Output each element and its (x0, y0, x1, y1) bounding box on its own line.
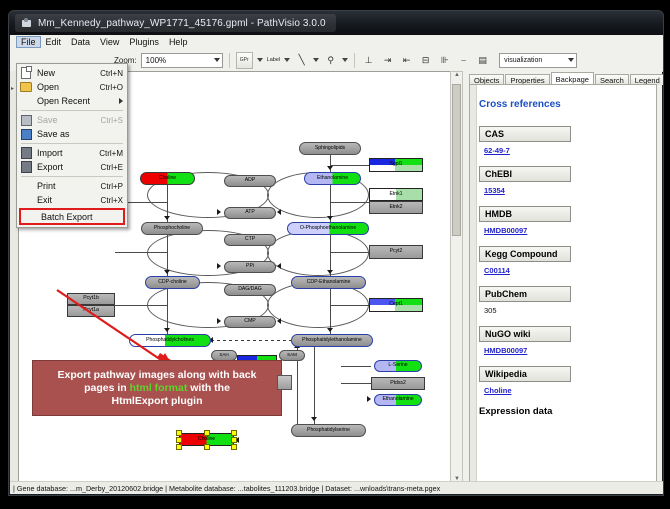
menu-bar: File Edit Data View Plugins Help (10, 35, 664, 49)
file-menu-save: Save Ctrl+S (17, 113, 127, 127)
node-ethanolamine-right[interactable]: Ethanolamine (374, 394, 422, 406)
xref-value-hmdb: HMDB00097 (484, 226, 654, 235)
xref-label-chebi: ChEBI (479, 166, 571, 182)
edge-sphingolipid-etn (330, 155, 331, 173)
node-phosphocholine[interactable]: Phosphocholine (141, 222, 203, 235)
blank-icon-2 (19, 180, 33, 192)
edge-gene-sgpl1 (330, 165, 370, 166)
status-bar-text: | Gene database: ...m_Derby_20120602.bri… (13, 484, 440, 493)
blank-icon-4 (23, 211, 37, 223)
blank-icon-1 (19, 95, 33, 107)
gene-etnk2[interactable]: Etnk2 (369, 201, 423, 214)
label-tool-label[interactable]: Label (267, 57, 280, 63)
xref-value-cas: 62-49-7 (484, 146, 654, 155)
selection-handle-se[interactable] (231, 444, 237, 450)
arrow-down-5 (327, 216, 333, 220)
arrow-down-3 (164, 328, 170, 332)
node-l-serine[interactable]: L-Serine (374, 360, 422, 372)
visualization-value: visualization (504, 57, 542, 64)
file-menu-batch-export[interactable]: Batch Export (19, 208, 125, 225)
file-menu-exit-accel: Ctrl+X (101, 196, 123, 205)
gene-sgpl1[interactable]: Sgpl1 (369, 158, 423, 172)
gene-ptdss2[interactable]: Ptdss2 (371, 377, 425, 390)
annotation-callout: Export pathway images along with back pa… (32, 360, 282, 416)
scroll-up-icon[interactable]: ▲ (454, 72, 460, 78)
toolbar-separator (229, 53, 230, 68)
arrow-left-cmp (277, 318, 281, 324)
save-as-icon (19, 128, 33, 140)
arrow-down-4 (327, 166, 333, 170)
export-icon (19, 161, 33, 173)
node-cdp-choline[interactable]: CDP-choline (145, 276, 200, 289)
arrow-left-ppi (277, 263, 281, 269)
node-cmp[interactable]: CMP (224, 316, 276, 328)
xref-link-wikipedia[interactable]: Choline (484, 386, 512, 395)
file-menu-popup[interactable]: New Ctrl+N Open Ctrl+O Open Recent Save … (16, 63, 128, 228)
gene-pcyt1b[interactable]: Pcyt1b (67, 293, 115, 305)
node-o-phosphoethanolamine[interactable]: O-Phosphoethanolamine (287, 222, 369, 235)
xref-label-pubchem: PubChem (479, 286, 571, 302)
file-menu-save-as[interactable]: Save as (17, 127, 127, 141)
edge-gene-pcyt2 (330, 252, 370, 253)
chevron-down-icon-2 (568, 58, 574, 62)
gene-sgpl1-label: Sgpl1 (389, 162, 402, 167)
save-disk-icon (19, 114, 33, 126)
node-sam[interactable]: SAM (279, 350, 305, 361)
arrow-down-6 (327, 270, 333, 274)
callout-anchor-box (277, 375, 292, 390)
blank-icon-3 (19, 194, 33, 206)
align-top-icon[interactable]: ⊥ (361, 53, 376, 68)
title-bar-inner: Mm_Kennedy_pathway_WP1771_45176.gpml - P… (15, 14, 336, 32)
file-menu-new-label: New (33, 68, 100, 78)
file-menu-new[interactable]: New Ctrl+N (17, 66, 127, 80)
backpage-scrollbar[interactable] (470, 85, 477, 491)
xref-label-wikipedia: Wikipedia (479, 366, 571, 382)
visualization-combo[interactable]: visualization (499, 53, 577, 68)
window-title: Mm_Kennedy_pathway_WP1771_45176.gpml - P… (38, 18, 326, 29)
open-folder-icon (19, 81, 33, 93)
gene-pcyt1a[interactable]: Pcyt1a (67, 305, 115, 317)
file-menu-save-accel: Ctrl+S (101, 116, 123, 125)
file-menu-export-label: Export (33, 162, 101, 172)
geneproduct-tool-icon[interactable]: GPr (236, 52, 253, 69)
file-menu-open-recent[interactable]: Open Recent (17, 94, 127, 108)
edge-gene-pcyt1 (115, 252, 167, 253)
file-menu-save-label: Save (33, 115, 101, 125)
file-menu-open-recent-label: Open Recent (33, 96, 115, 106)
edge-gene-chpt (115, 305, 167, 306)
node-ctp[interactable]: CTP (224, 234, 276, 246)
file-menu-print[interactable]: Print Ctrl+P (17, 179, 127, 193)
xref-label-cas: CAS (479, 126, 571, 142)
gene-pcyt2[interactable]: Pcyt2 (369, 245, 423, 259)
file-menu-import[interactable]: Import Ctrl+M (17, 146, 127, 160)
file-menu-open-label: Open (33, 82, 100, 92)
label-dropdown-icon[interactable] (284, 58, 290, 62)
xref-value-pubchem: 305 (484, 306, 654, 315)
xref-link-hmdb[interactable]: HMDB00097 (484, 226, 527, 235)
title-bar: Mm_Kennedy_pathway_WP1771_45176.gpml - P… (9, 11, 663, 35)
status-bar: | Gene database: ...m_Derby_20120602.bri… (10, 481, 664, 494)
callout-line-2: pages in html format with the (84, 382, 230, 395)
group-icon[interactable]: ▤ (475, 53, 490, 68)
xref-link-chebi[interactable]: 15354 (484, 186, 505, 195)
file-menu-print-label: Print (33, 181, 101, 191)
file-menu-export-accel: Ctrl+E (101, 163, 123, 172)
align-left-icon[interactable]: ⇥ (380, 53, 395, 68)
xref-value-wikipedia: Choline (484, 386, 654, 395)
xref-value-chebi: 15354 (484, 186, 654, 195)
menu-help[interactable]: Help (164, 36, 193, 48)
node-atp[interactable]: ATP (224, 207, 276, 219)
selection-handle-nw[interactable] (176, 430, 182, 436)
selection-handle-n[interactable] (204, 430, 210, 436)
node-phosphatidylserine[interactable]: Phosphatidylserine (291, 424, 366, 437)
distribute-horizontal-icon[interactable]: ⊟ (418, 53, 433, 68)
arrow-right-atp (217, 209, 221, 215)
node-phosphatidylcholines[interactable]: Phosphatidylcholines (129, 334, 211, 347)
desktop-background: Mm_Kennedy_pathway_WP1771_45176.gpml - P… (0, 0, 670, 509)
selection-handle-e[interactable] (231, 437, 237, 443)
arrow-right-ppi (217, 263, 221, 269)
file-menu-open-accel: Ctrl+O (100, 83, 123, 92)
callout-line-2b: with the (187, 382, 230, 394)
xref-value-nugo: HMDB00097 (484, 346, 654, 355)
callout-highlight: html format (130, 382, 188, 394)
geneproduct-dropdown-icon[interactable] (257, 58, 263, 62)
node-cdp-ethanolamine[interactable]: CDP-Ethanolamine (291, 276, 366, 289)
arrow-right-ethanolamine (367, 396, 371, 402)
selection-handle-w[interactable] (176, 437, 182, 443)
node-phosphatidylethanolamine[interactable]: Phosphatidylethanolamine (291, 334, 373, 347)
selection-handle-sw[interactable] (176, 444, 182, 450)
xref-label-nugo: NuGO wiki (479, 326, 571, 342)
callout-line-3: HtmlExport plugin (112, 395, 203, 408)
edge-gene-ptdss2 (341, 383, 371, 384)
xref-label-hmdb: HMDB (479, 206, 571, 222)
menu-file[interactable]: File (16, 36, 41, 48)
interaction-dropdown-icon[interactable] (342, 58, 348, 62)
arrow-down-2 (164, 270, 170, 274)
chevron-down-icon (214, 58, 220, 62)
file-menu-print-accel: Ctrl+P (101, 182, 123, 191)
menu-plugins[interactable]: Plugins (124, 36, 164, 48)
backpage-content: Cross references CAS 62-49-7 ChEBI 15354… (469, 84, 657, 492)
pathvisio-window: Mm_Kennedy_pathway_WP1771_45176.gpml - P… (8, 10, 664, 496)
xref-label-kegg: Kegg Compound (479, 246, 571, 262)
gene-cept1-label: Cept1 (389, 302, 403, 307)
client-area: File Edit Data View Plugins Help Zoom: 1… (10, 35, 662, 494)
arrow-down-ps (311, 417, 317, 421)
side-panel-tabs: Objects Properties Backpage Search Legen… (469, 71, 662, 85)
node-ppi[interactable]: PPi (224, 261, 276, 273)
file-menu-separator-3 (21, 176, 123, 177)
zoom-value: 100% (146, 56, 166, 65)
selection-handle-s[interactable] (204, 444, 210, 450)
file-menu-save-as-label: Save as (33, 129, 123, 139)
line-dropdown-icon[interactable] (313, 58, 319, 62)
distribute-vertical-icon[interactable]: ⊪ (437, 53, 452, 68)
file-menu-export[interactable]: Export Ctrl+E (17, 160, 127, 174)
side-panel: Objects Properties Backpage Search Legen… (463, 71, 662, 494)
menu-data[interactable]: Data (66, 36, 95, 48)
align-right-icon[interactable]: ⇤ (399, 53, 414, 68)
interaction-tool-icon[interactable]: ⚲ (323, 53, 338, 68)
arrow-down-7 (327, 328, 333, 332)
file-menu-separator-1 (21, 110, 123, 111)
zoom-combo[interactable]: 100% (141, 53, 223, 68)
new-document-icon (19, 67, 33, 79)
node-dag[interactable]: DAG/DAG (224, 284, 276, 296)
menu-edit[interactable]: Edit (41, 36, 67, 48)
file-menu-batch-export-label: Batch Export (37, 212, 119, 222)
arrow-left-atp (277, 209, 281, 215)
file-menu-separator-2 (21, 143, 123, 144)
file-menu-open[interactable]: Open Ctrl+O (17, 80, 127, 94)
node-sphingolipids[interactable]: Sphingolipids (299, 142, 361, 155)
gene-cept1[interactable]: Cept1 (369, 298, 423, 312)
menu-view[interactable]: View (95, 36, 124, 48)
expression-data-heading: Expression data (479, 406, 654, 417)
arrow-right-cmp (217, 318, 221, 324)
submenu-arrow-icon (119, 98, 123, 104)
callout-line-1: Export pathway images along with back (58, 369, 257, 382)
xref-link-nugo[interactable]: HMDB00097 (484, 346, 527, 355)
callout-line-2a: pages in (84, 382, 130, 394)
xref-value-kegg: C00114 (484, 266, 654, 275)
file-menu-import-label: Import (33, 148, 99, 158)
file-menu-exit[interactable]: Exit Ctrl+X (17, 193, 127, 207)
line-tool-icon[interactable]: ╲ (294, 53, 309, 68)
toolbar-separator-2 (354, 53, 355, 68)
import-icon (19, 147, 33, 159)
xref-link-cas[interactable]: 62-49-7 (484, 146, 510, 155)
edge-ptdethn-ptdserine (314, 347, 315, 425)
stack-bottom-icon[interactable]: ⎯ (456, 53, 471, 68)
edge-gene-etnk (330, 202, 370, 203)
file-menu-exit-label: Exit (33, 195, 101, 205)
xref-link-kegg[interactable]: C00114 (484, 266, 510, 275)
pathvisio-icon (21, 18, 32, 29)
reaction-loop-5 (267, 230, 369, 276)
node-adp[interactable]: ADP (224, 175, 276, 187)
node-choline[interactable]: Choline (140, 172, 195, 185)
edge-methylation-dashed (211, 340, 291, 341)
edge-serine-in (341, 366, 371, 367)
file-menu-import-accel: Ctrl+M (99, 149, 123, 158)
edge-gene-cept1 (330, 305, 370, 306)
cross-references-heading: Cross references (479, 99, 654, 110)
arrow-down-1 (164, 216, 170, 220)
selection-handle-ne[interactable] (231, 430, 237, 436)
vertical-scroll-thumb[interactable] (452, 84, 461, 236)
gene-etnk1[interactable]: Etnk1 (369, 188, 423, 201)
node-ethanolamine[interactable]: Ethanolamine (304, 172, 361, 185)
canvas-vertical-scrollbar[interactable]: ▲ ▼ (450, 71, 463, 483)
file-menu-new-accel: Ctrl+N (100, 69, 123, 78)
